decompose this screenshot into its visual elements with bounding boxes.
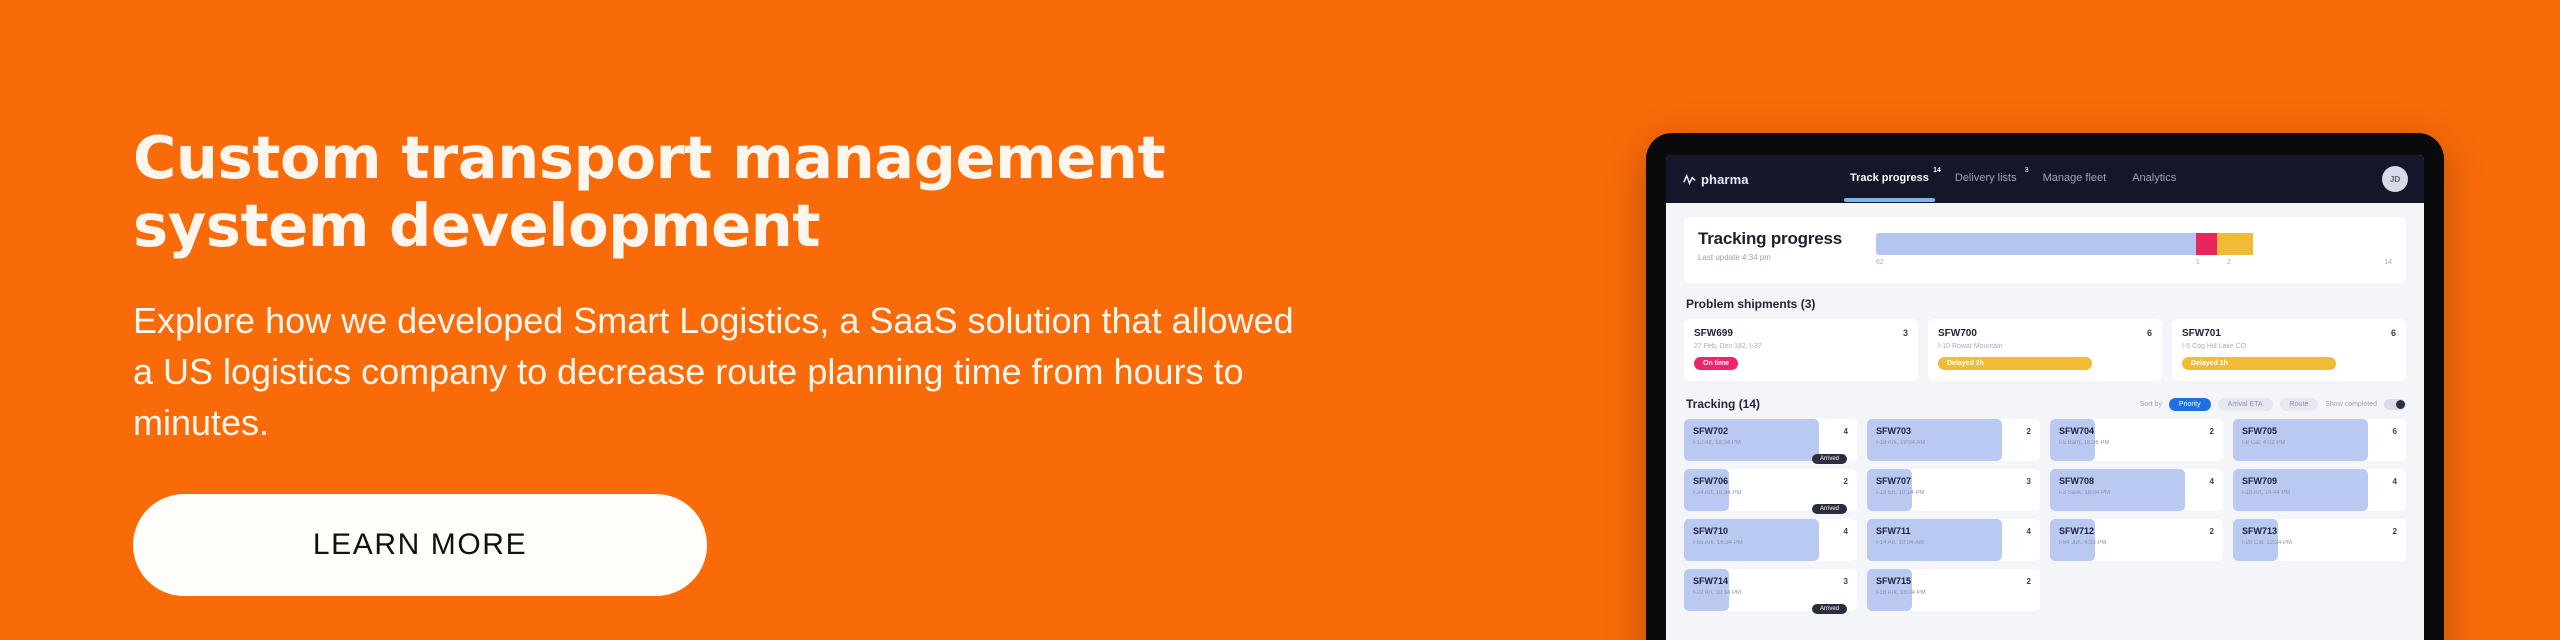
progress-bar-labels: 62 1 2 14 — [1876, 259, 2392, 269]
status-badge: Delayed 2h — [1938, 357, 2092, 370]
app-body: Tracking progress Last update 4:34 pm 62 — [1666, 203, 2424, 640]
shipment-id: SFW715 — [1876, 576, 1911, 586]
shipment-id: SFW699 — [1694, 328, 1733, 339]
problem-shipments-row: SFW699 3 27 Feb, Dec 182, I-37 On time S… — [1684, 319, 2406, 381]
progress-segment-delayed — [2217, 233, 2253, 255]
progress-bar[interactable] — [1876, 233, 2392, 255]
progress-segment-problem — [2196, 233, 2217, 255]
progress-segment-delivered — [1876, 233, 2196, 255]
tracking-card[interactable]: SFW710 4 I-55 Ark, 16:34 PM — [1684, 519, 1857, 561]
hero-description: Explore how we developed Smart Logistics… — [133, 295, 1313, 448]
shipment-id: SFW702 — [1693, 426, 1728, 436]
shipment-id: SFW713 — [2242, 526, 2277, 536]
tracking-card[interactable]: SFW707 3 I-18 Eri, 10:14 PM — [1867, 469, 2040, 511]
nav-item-manage-fleet[interactable]: Manage fleet — [2043, 172, 2107, 186]
logo-mark-icon — [1682, 172, 1697, 187]
shipment-route: I-28 Cal, 12:24 PM — [2242, 540, 2397, 546]
shipment-count: 4 — [2027, 527, 2031, 536]
tracking-card[interactable]: SFW712 2 I-54 Jun, 4:33 PM — [2050, 519, 2223, 561]
nav-label: Track progress — [1850, 172, 1929, 184]
progress-label-delayed: 2 — [2227, 259, 2231, 266]
shipment-count: 3 — [1844, 577, 1848, 586]
shipment-count: 3 — [2027, 477, 2031, 486]
arrived-chip: Arrived — [1812, 504, 1847, 514]
shipment-route: I-3 Sask, 18:34 PM — [2059, 490, 2214, 496]
shipment-id: SFW710 — [1693, 526, 1728, 536]
problem-shipment-card[interactable]: SFW700 6 I-10 Rowat Mountain Delayed 2h — [1928, 319, 2162, 381]
arrived-chip: Arrived — [1812, 604, 1847, 614]
shipment-id: SFW704 — [2059, 426, 2094, 436]
problem-shipments-title: Problem shipments (3) — [1686, 297, 2406, 311]
shipment-count: 4 — [2210, 477, 2214, 486]
progress-label-problem: 1 — [2196, 259, 2200, 266]
progress-bar-area: 62 1 2 14 — [1876, 229, 2392, 269]
shipment-count: 2 — [2393, 527, 2397, 536]
shipment-route: I-18 Ark, 18:04 PM — [1876, 590, 2031, 596]
tracking-card[interactable]: SFW709 4 I-18 Art, 14:44 PM — [2233, 469, 2406, 511]
tracking-card[interactable]: SFW704 2 I-5 Barn, 16:36 PM — [2050, 419, 2223, 461]
status-badge: On time — [1694, 357, 1738, 370]
nav-badge: 14 — [1933, 167, 1941, 174]
tracking-card[interactable]: SFW713 2 I-28 Cal, 12:24 PM — [2233, 519, 2406, 561]
shipment-route: I-18 Art, 14:44 PM — [2242, 490, 2397, 496]
progress-title: Tracking progress — [1698, 229, 1858, 249]
shipment-route: I-34 Art, 10:34 PM — [1693, 490, 1848, 496]
page-title: Custom transport management system devel… — [133, 124, 1263, 261]
hero-copy-block: Custom transport management system devel… — [133, 124, 1313, 596]
shipment-route: I-12 Alt, 18:34 PM — [1693, 440, 1848, 446]
shipment-id: SFW707 — [1876, 476, 1911, 486]
shipment-id: SFW706 — [1693, 476, 1728, 486]
filter-pill-arrival-eta[interactable]: Arrival ETA — [2218, 398, 2273, 411]
app-brand-label: pharma — [1701, 172, 1749, 187]
nav-item-delivery-lists[interactable]: Delivery lists 3 — [1955, 172, 2017, 186]
shipment-route: I-54 Jun, 4:33 PM — [2059, 540, 2214, 546]
app-top-nav: pharma Track progress 14 Delivery lists … — [1666, 155, 2424, 203]
cta-container: LEARN MORE — [133, 494, 1313, 596]
filter-pill-route[interactable]: Route — [2280, 398, 2319, 411]
progress-titles: Tracking progress Last update 4:34 pm — [1698, 229, 1858, 262]
filter-pill-priority[interactable]: Priority — [2169, 398, 2211, 411]
tablet-device-frame: pharma Track progress 14 Delivery lists … — [1646, 133, 2444, 640]
shipment-count: 2 — [2027, 427, 2031, 436]
problem-shipment-card[interactable]: SFW699 3 27 Feb, Dec 182, I-37 On time — [1684, 319, 1918, 381]
shipment-route: I-5 Barn, 16:36 PM — [2059, 440, 2214, 446]
tracking-card[interactable]: SFW715 2 I-18 Ark, 18:04 PM — [1867, 569, 2040, 611]
nav-item-track-progress[interactable]: Track progress 14 — [1850, 172, 1929, 186]
shipment-route: I-10 Rowat Mountain — [1938, 343, 2152, 350]
app-brand[interactable]: pharma — [1682, 172, 1850, 187]
shipment-count: 6 — [2147, 328, 2152, 338]
shipment-route: I-18 Eri, 10:14 PM — [1876, 490, 2031, 496]
tracking-card[interactable]: SFW705 6 I-8 Cal, 4:02 PM — [2233, 419, 2406, 461]
nav-item-analytics[interactable]: Analytics — [2132, 172, 2176, 186]
sort-by-label: Sort by — [2140, 401, 2162, 408]
app-nav-items: Track progress 14 Delivery lists 3 Manag… — [1850, 172, 2382, 186]
shipment-count: 2 — [1844, 477, 1848, 486]
nav-label: Analytics — [2132, 172, 2176, 184]
shipment-count: 6 — [2393, 427, 2397, 436]
tablet-screen: pharma Track progress 14 Delivery lists … — [1666, 155, 2424, 640]
shipment-count: 4 — [2393, 477, 2397, 486]
tracking-card[interactable]: SFW706 2 I-34 Art, 10:34 PM Arrived — [1684, 469, 1857, 511]
progress-last-update: Last update 4:34 pm — [1698, 253, 1858, 262]
shipment-count: 2 — [2027, 577, 2031, 586]
progress-segment-remaining — [2253, 233, 2392, 255]
tracking-title: Tracking (14) — [1686, 397, 1760, 411]
tracking-card[interactable]: SFW714 3 I-22 Ari, 10:14 PM Arrived — [1684, 569, 1857, 611]
tracking-section-header: Tracking (14) Sort by Priority Arrival E… — [1686, 397, 2406, 411]
shipment-count: 3 — [1903, 328, 1908, 338]
show-completed-label: Show completed — [2325, 401, 2377, 408]
progress-label-delivered: 62 — [1876, 259, 1884, 266]
shipment-route: I-5 Cog Hill Lake CO — [2182, 343, 2396, 350]
shipment-count: 2 — [2210, 527, 2214, 536]
show-completed-toggle[interactable] — [2384, 399, 2406, 410]
tracking-filters: Sort by Priority Arrival ETA Route Show … — [2140, 398, 2406, 411]
tracking-grid: SFW702 4 I-12 Alt, 18:34 PM Arrived SFW7… — [1684, 419, 2406, 611]
tracking-card[interactable]: SFW702 4 I-12 Alt, 18:34 PM Arrived — [1684, 419, 1857, 461]
nav-label: Manage fleet — [2043, 172, 2107, 184]
progress-label-remaining: 14 — [2384, 259, 2392, 266]
shipment-route: I-18 Ark, 19:04 AM — [1876, 440, 2031, 446]
nav-label: Delivery lists — [1955, 172, 2017, 184]
shipment-id: SFW714 — [1693, 576, 1728, 586]
shipment-id: SFW708 — [2059, 476, 2094, 486]
learn-more-button[interactable]: LEARN MORE — [133, 494, 707, 596]
shipment-id: SFW709 — [2242, 476, 2277, 486]
shipment-id: SFW711 — [1876, 526, 1911, 536]
tracking-progress-card: Tracking progress Last update 4:34 pm 62 — [1684, 217, 2406, 283]
tracking-card[interactable]: SFW711 4 I-14 Ari, 10:04 AM — [1867, 519, 2040, 561]
nav-badge: 3 — [2025, 167, 2029, 174]
shipment-id: SFW705 — [2242, 426, 2277, 436]
shipment-count: 4 — [1844, 527, 1848, 536]
tracking-card[interactable]: SFW703 2 I-18 Ark, 19:04 AM — [1867, 419, 2040, 461]
tracking-card[interactable]: SFW708 4 I-3 Sask, 18:34 PM — [2050, 469, 2223, 511]
problem-shipment-card[interactable]: SFW701 6 I-5 Cog Hill Lake CO Delayed 1h — [2172, 319, 2406, 381]
shipment-id: SFW701 — [2182, 328, 2221, 339]
promo-banner: Custom transport management system devel… — [0, 0, 2560, 640]
shipment-id: SFW712 — [2059, 526, 2094, 536]
shipment-route: I-14 Ari, 10:04 AM — [1876, 540, 2031, 546]
shipment-route: 27 Feb, Dec 182, I-37 — [1694, 343, 1908, 350]
shipment-id: SFW703 — [1876, 426, 1911, 436]
shipment-route: I-55 Ark, 16:34 PM — [1693, 540, 1848, 546]
shipment-id: SFW700 — [1938, 328, 1977, 339]
shipment-count: 6 — [2391, 328, 2396, 338]
avatar[interactable]: JD — [2382, 166, 2408, 192]
status-badge: Delayed 1h — [2182, 357, 2336, 370]
shipment-count: 4 — [1844, 427, 1848, 436]
arrived-chip: Arrived — [1812, 454, 1847, 464]
shipment-route: I-22 Ari, 10:14 PM — [1693, 590, 1848, 596]
shipment-count: 2 — [2210, 427, 2214, 436]
shipment-route: I-8 Cal, 4:02 PM — [2242, 440, 2397, 446]
